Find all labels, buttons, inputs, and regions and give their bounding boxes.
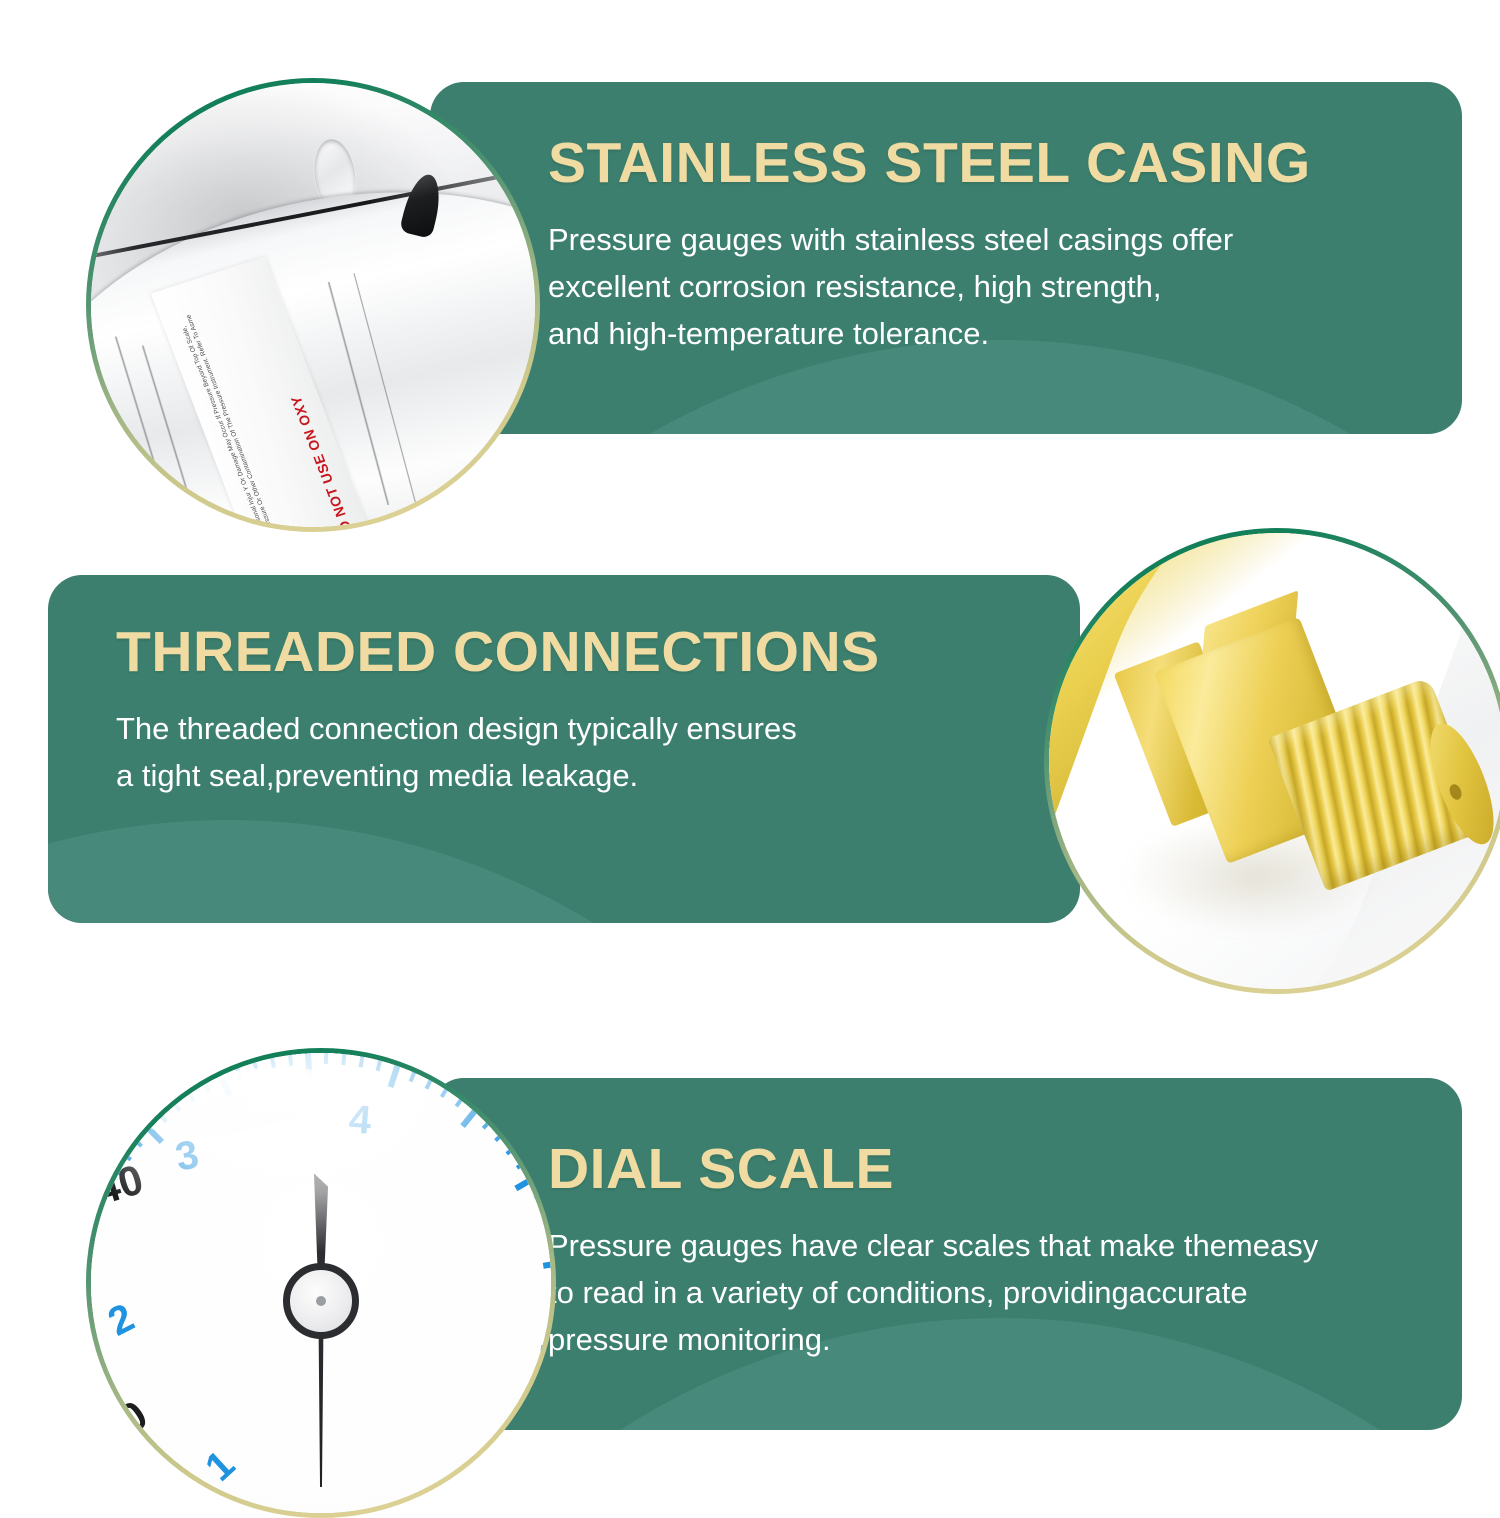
feature-description-line: a tight seal,preventing media leakage. (116, 752, 996, 799)
feature-text-block: THREADED CONNECTIONS The threaded connec… (116, 623, 996, 799)
dial-label-outer: 30 (92, 1394, 154, 1455)
feature-panel-dial-scale: DIAL SCALE Pressure gauges have clear sc… (430, 1078, 1462, 1430)
feature-description: Pressure gauges with stainless steel cas… (548, 216, 1408, 357)
brass-threaded-fitting-photo (1049, 533, 1500, 989)
feature-description-line: to read in a variety of conditions, prov… (548, 1269, 1448, 1316)
feature-panel-stainless-steel-casing: STAINLESS STEEL CASING Pressure gauges w… (430, 82, 1462, 434)
feature-description-line: and high-temperature tolerance. (548, 310, 1408, 357)
needle-hub (283, 1263, 359, 1339)
feature-text-block: STAINLESS STEEL CASING Pressure gauges w… (548, 134, 1408, 357)
feature-description-line: excellent corrosion resistance, high str… (548, 263, 1408, 310)
gauge-dial-scale-photo: 30401234 (91, 1053, 551, 1513)
panel-sheen-overlay (48, 820, 928, 923)
feature-image-stainless-steel-casing: Warning Can Cause Personal Injur Y Or Da… (86, 78, 540, 532)
feature-title: DIAL SCALE (548, 1140, 1448, 1200)
feature-description: Pressure gauges have clear scales that m… (548, 1222, 1448, 1363)
feature-description-line: Pressure gauges with stainless steel cas… (548, 216, 1408, 263)
feature-title: STAINLESS STEEL CASING (548, 134, 1408, 194)
infographic-canvas: STAINLESS STEEL CASING Pressure gauges w… (0, 0, 1500, 1500)
dial-label-inner: 4 (347, 1099, 372, 1141)
stainless-steel-gauge-back-photo: Warning Can Cause Personal Injur Y Or Da… (91, 83, 535, 527)
feature-image-dial-scale: 30401234 (86, 1048, 556, 1518)
feature-text-block: DIAL SCALE Pressure gauges have clear sc… (548, 1140, 1448, 1363)
feature-description-line: The threaded connection design typically… (116, 705, 996, 752)
gauge-dial-face: 30401234 (91, 1053, 551, 1513)
feature-description-line: Pressure gauges have clear scales that m… (548, 1222, 1448, 1269)
feature-description: The threaded connection design typically… (116, 705, 996, 799)
feature-panel-threaded-connections: THREADED CONNECTIONS The threaded connec… (48, 575, 1080, 923)
dial-label-inner: 1 (198, 1444, 241, 1489)
feature-description-line: pressure monitoring. (548, 1316, 1448, 1363)
dial-label-inner: 2 (102, 1297, 140, 1343)
dial-label-inner: 3 (172, 1135, 202, 1179)
feature-title: THREADED CONNECTIONS (116, 623, 996, 683)
feature-image-threaded-connections (1044, 528, 1500, 994)
